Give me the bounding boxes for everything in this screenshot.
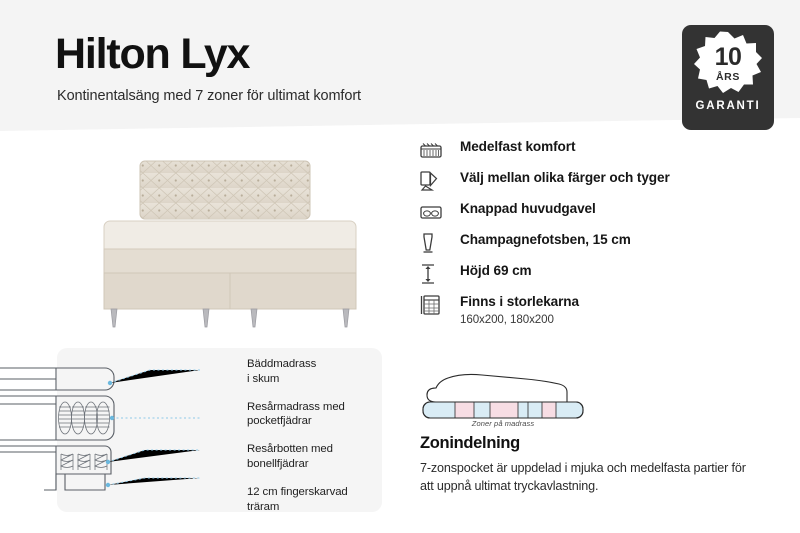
layer-label-line2: i skum	[247, 373, 279, 385]
layer-label-line1: 12 cm fingerskarvad	[247, 486, 348, 498]
layer-label: Resårmadrass med pocketfjädrar	[247, 400, 387, 430]
product-infographic: Hilton Lyx Kontinentalsäng med 7 zoner f…	[0, 0, 800, 533]
feature-label: Välj mellan olika färger och tyger	[460, 170, 670, 187]
guarantee-badge: 10 ÅRS GARANTI	[682, 25, 774, 130]
zone-section-description: 7-zonspocket är uppdelad i mjuka och med…	[420, 459, 750, 496]
page-title: Hilton Lyx	[55, 33, 249, 76]
badge-years-label: ÅRS	[694, 71, 762, 83]
feature-list: Medelfast komfort Välj mellan olika färg…	[420, 138, 750, 326]
feature-label: Medelfast komfort	[460, 139, 575, 156]
feature-item: Medelfast komfort	[420, 138, 750, 169]
zone-section-title: Zonindelning	[420, 434, 520, 453]
layer-label-line2: pocketfjädrar	[247, 415, 312, 427]
feature-item: Champagnefotsben, 15 cm	[420, 231, 750, 262]
page-subtitle: Kontinentalsäng med 7 zoner för ultimat …	[57, 88, 361, 104]
feature-label: Champagnefotsben, 15 cm	[460, 232, 631, 249]
feature-label: Finns i storlekarna	[460, 294, 579, 311]
layer-label-line2: bonellfjädrar	[247, 458, 308, 470]
layer-label: Resårbotten med bonellfjädrar	[247, 442, 387, 472]
layer-label-list: Bäddmadrass i skum Resårmadrass med pock…	[247, 357, 387, 528]
feature-item: Finns i storlekarna 160x200, 180x200	[420, 293, 750, 326]
feature-sublabel: 160x200, 180x200	[460, 313, 579, 326]
zone-caption: Zoner på madrass	[418, 419, 588, 428]
headboard-icon	[420, 200, 450, 224]
layers-cutaway-diagram	[0, 352, 200, 510]
feature-label: Knappad huvudgavel	[460, 201, 596, 218]
feature-item: Välj mellan olika färger och tyger	[420, 169, 750, 200]
product-photo	[85, 143, 375, 338]
feature-item: Höjd 69 cm	[420, 262, 750, 293]
badge-number: 10	[694, 43, 762, 72]
bed-leg-icon	[420, 231, 450, 255]
layer-label-line1: Resårmadrass med	[247, 401, 345, 413]
height-arrow-icon	[420, 262, 450, 286]
starburst-icon: 10 ÅRS	[694, 31, 762, 97]
fabric-swatch-icon	[420, 169, 450, 193]
feature-item: Knappad huvudgavel	[420, 200, 750, 231]
badge-guarantee-word: GARANTI	[696, 100, 761, 112]
mattress-firmness-icon	[420, 138, 450, 162]
layer-label: 12 cm fingerskarvad träram	[247, 485, 387, 515]
zone-illustration	[418, 362, 588, 424]
layer-label-line1: Resårbotten med	[247, 443, 333, 455]
layer-label-line1: Bäddmadrass	[247, 358, 316, 370]
layer-label-line2: träram	[247, 501, 279, 513]
layer-label: Bäddmadrass i skum	[247, 357, 387, 387]
bed-size-icon	[420, 293, 450, 317]
feature-label: Höjd 69 cm	[460, 263, 532, 280]
